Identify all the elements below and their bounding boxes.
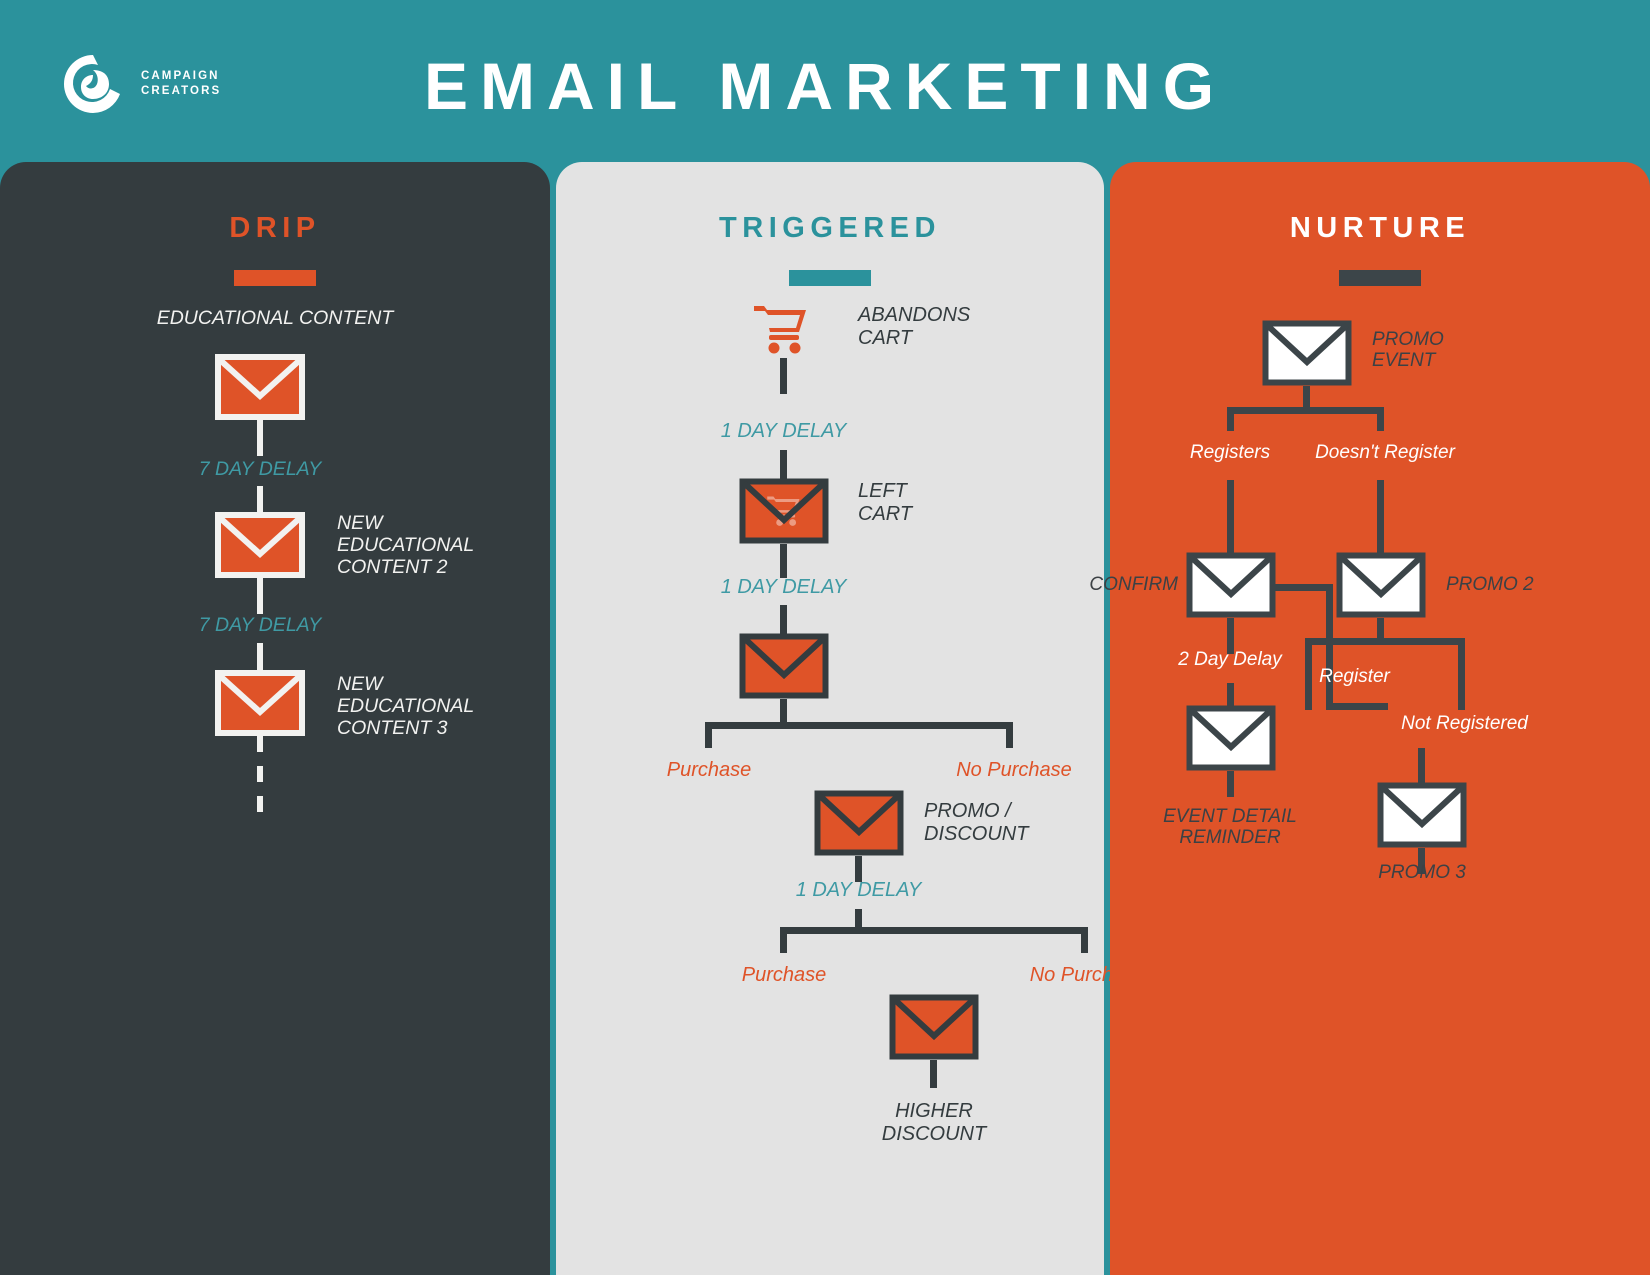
label-branch-purchase-1: Purchase (619, 759, 799, 782)
envelope-new-educational-2[interactable] (215, 512, 305, 578)
column-underline-nurture (1339, 270, 1421, 286)
header-bar: CAMPAIGNCREATORS EMAIL MARKETING (0, 0, 1650, 162)
connector-trg-8 (930, 1060, 937, 1088)
label-promo-2: PROMO 2 (1446, 574, 1606, 595)
label-delay-drip-1: 7 DAY DELAY (0, 458, 520, 480)
connector-nur-fork-1-bar (1227, 407, 1384, 414)
connector-drip-1 (257, 420, 263, 456)
connector-trg-2 (780, 450, 787, 480)
column-underline-triggered (789, 270, 871, 286)
label-branch-no-purchase-1: No Purchase (919, 759, 1109, 782)
connector-nur-6 (1227, 771, 1234, 797)
envelope-promo-3[interactable] (1377, 782, 1467, 848)
label-branch-register: Register (1292, 666, 1417, 687)
envelope-left-cart[interactable] (739, 478, 829, 544)
label-new-educational-3: NEW EDUCATIONAL CONTENT 3 (337, 673, 537, 739)
label-branch-not-registered: Not Registered (1372, 713, 1557, 734)
connector-nur-fork-1-right (1377, 407, 1384, 431)
connector-trg-fork-2-left (780, 927, 787, 953)
connector-nur-2 (1227, 480, 1234, 554)
connector-trg-1 (780, 358, 787, 394)
envelope-promo-event[interactable] (1262, 320, 1352, 386)
page-title: EMAIL MARKETING (0, 48, 1650, 124)
connector-trg-fork-2-bar (780, 927, 1088, 934)
label-delay-drip-2: 7 DAY DELAY (0, 614, 520, 636)
connector-trg-4 (780, 605, 787, 635)
label-promo-discount: PROMO / DISCOUNT (924, 800, 1104, 845)
label-delay-trg-2: 1 DAY DELAY (556, 576, 1011, 599)
label-branch-purchase-2: Purchase (694, 964, 874, 987)
label-delay-trg-3: 1 DAY DELAY (631, 879, 1086, 902)
column-title-nurture: NURTURE (1110, 212, 1650, 245)
connector-drip-3 (257, 578, 263, 614)
connector-trg-fork-1-left (705, 722, 712, 748)
label-educational-content: EDUCATIONAL CONTENT (0, 307, 550, 329)
label-left-cart: LEFT CART (858, 480, 1058, 525)
infographic-canvas: CAMPAIGNCREATORS EMAIL MARKETING DRIP ED… (0, 0, 1650, 1275)
label-abandons-cart: ABANDONS CART (858, 304, 1058, 349)
connector-trg-fork-1-right (1006, 722, 1013, 748)
connector-trg-fork-1-bar (705, 722, 1013, 729)
connector-drip-2 (257, 486, 263, 514)
column-title-drip: DRIP (0, 212, 550, 245)
label-promo-3: PROMO 3 (1332, 862, 1512, 883)
connector-register-v (1326, 584, 1333, 706)
label-branch-registers: Registers (1150, 442, 1310, 463)
column-title-triggered: TRIGGERED (556, 212, 1104, 245)
envelope-promo-2[interactable] (1336, 552, 1426, 618)
connector-register-h-top (1273, 584, 1333, 591)
connector-nur-3 (1377, 480, 1384, 554)
label-higher-discount: HIGHER DISCOUNT (844, 1100, 1024, 1145)
column-underline-drip (234, 270, 316, 286)
envelope-confirm[interactable] (1186, 552, 1276, 618)
label-delay-trg-1: 1 DAY DELAY (556, 420, 1011, 443)
label-promo-event: PROMO EVENT (1372, 329, 1532, 372)
shopping-cart-icon[interactable] (752, 302, 810, 354)
column-drip: DRIP EDUCATIONAL CONTENT 7 DAY DELAY NEW… (0, 162, 550, 1275)
envelope-event-detail-reminder[interactable] (1186, 705, 1276, 771)
envelope-promo-discount[interactable] (814, 790, 904, 856)
label-delay-nurture: 2 Day Delay (1150, 649, 1310, 670)
column-triggered: TRIGGERED ABANDONS CART 1 DAY DELAY (556, 162, 1104, 1275)
connector-register-h-bottom (1326, 703, 1388, 710)
label-confirm: CONFIRM (1000, 574, 1178, 595)
envelope-new-educational-3[interactable] (215, 670, 305, 736)
connector-nur-fork-1-left (1227, 407, 1234, 431)
envelope-reminder-email[interactable] (739, 633, 829, 699)
label-event-detail-reminder: EVENT DETAIL REMINDER (1140, 806, 1320, 849)
envelope-educational-content[interactable] (215, 354, 305, 420)
connector-drip-4 (257, 643, 263, 671)
connector-drip-continues (257, 736, 263, 812)
column-nurture: NURTURE PROMO EVENT Registers Doesn't Re… (1110, 162, 1650, 1275)
connector-trg-fork-2-right (1081, 927, 1088, 953)
connector-trg-3 (780, 544, 787, 578)
label-new-educational-2: NEW EDUCATIONAL CONTENT 2 (337, 512, 537, 578)
label-branch-doesnt-register: Doesn't Register (1300, 442, 1470, 463)
envelope-higher-discount[interactable] (889, 994, 979, 1060)
connector-nur-fork-2-right (1458, 638, 1465, 710)
